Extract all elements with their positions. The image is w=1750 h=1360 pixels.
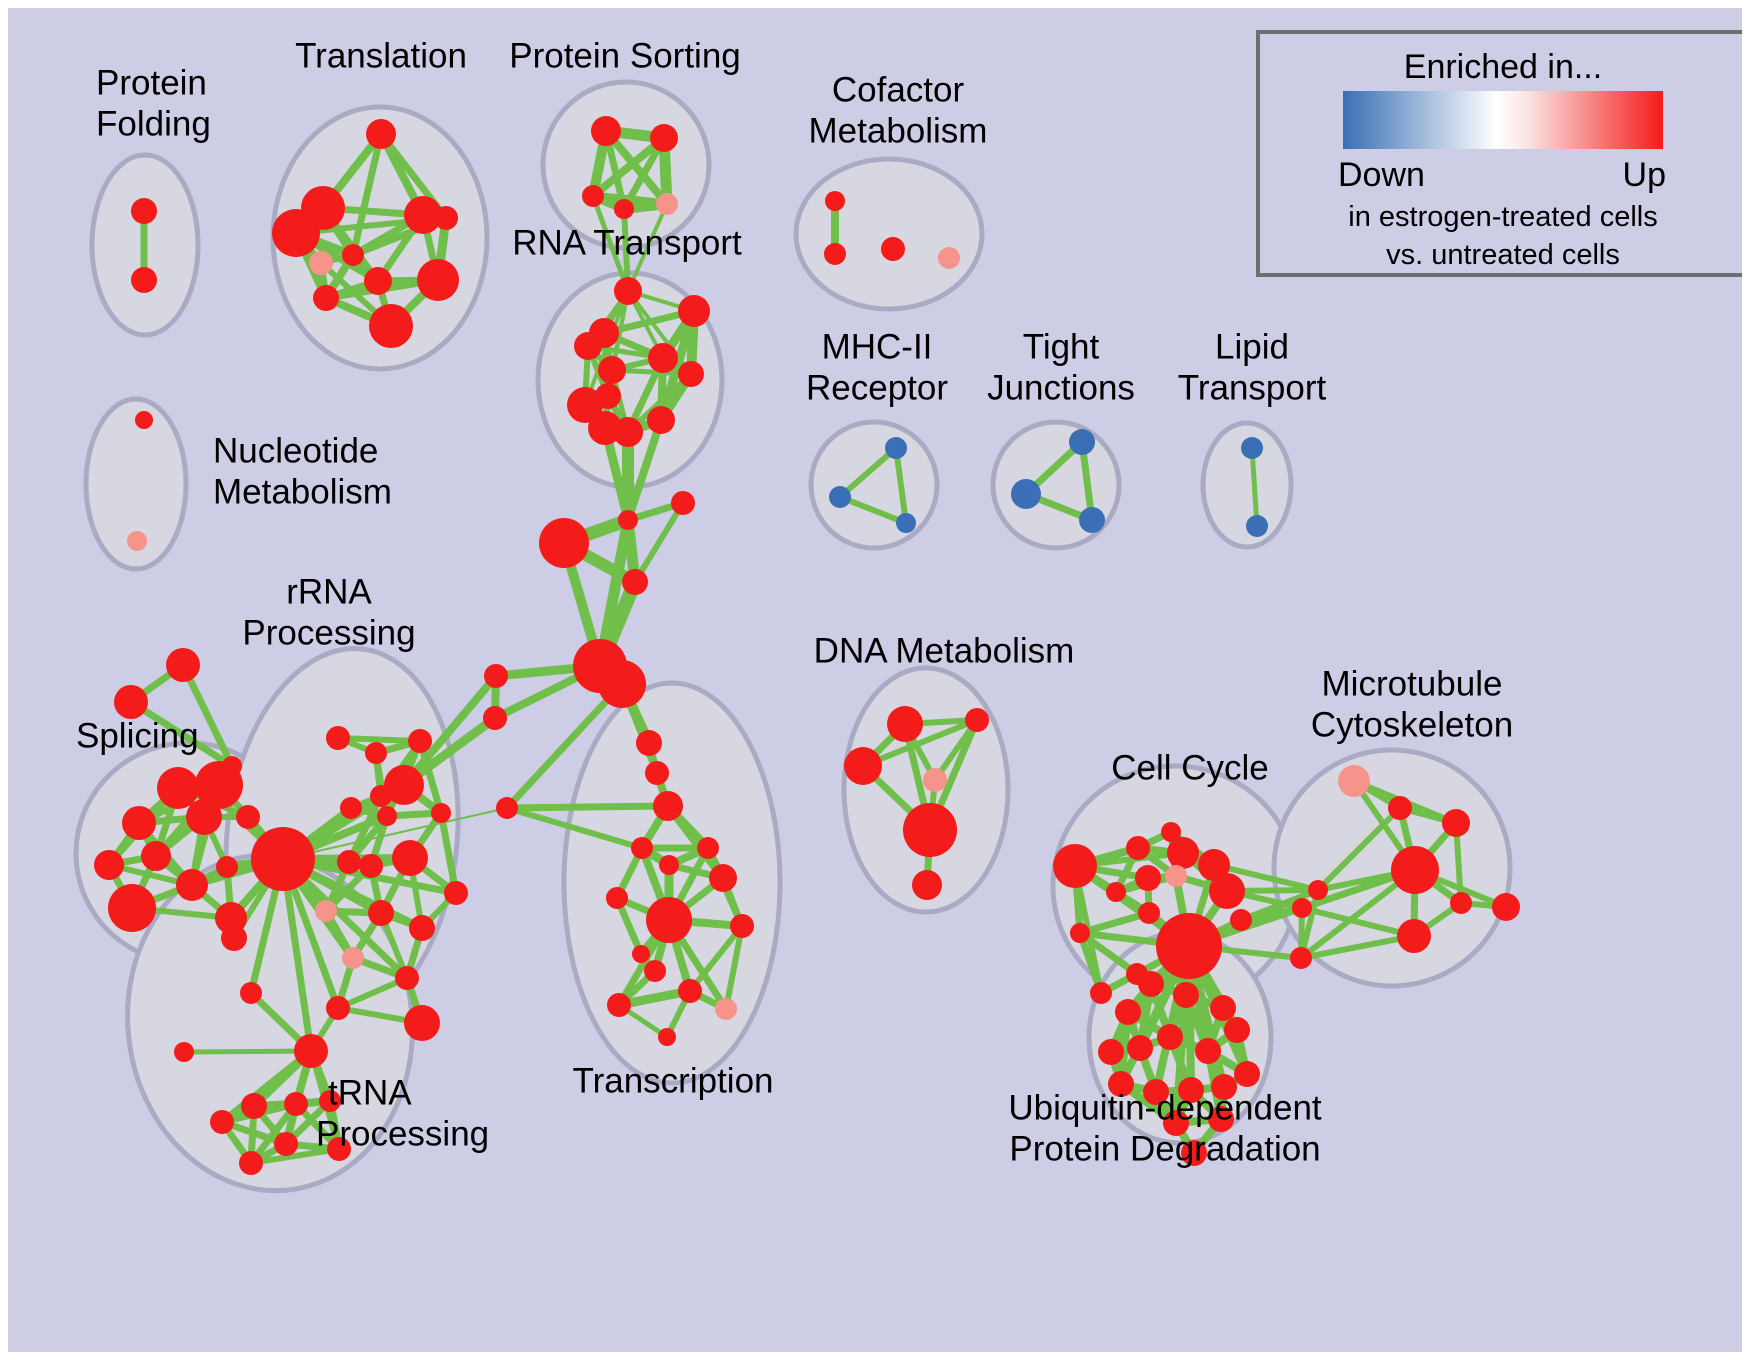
cluster-label-microtubule-cytoskeleton-2: Cytoskeleton — [1311, 705, 1513, 744]
node[interactable] — [1106, 882, 1126, 902]
node[interactable] — [618, 510, 638, 530]
node[interactable] — [1167, 837, 1199, 869]
node[interactable] — [1397, 919, 1431, 953]
legend-subtitle-line1: in estrogen-treated cells — [1348, 201, 1658, 233]
node[interactable] — [326, 726, 350, 750]
cluster-label-lipid-transport-2: Transport — [1178, 368, 1327, 407]
node[interactable] — [364, 267, 392, 295]
node[interactable] — [1157, 1024, 1183, 1050]
node[interactable] — [395, 966, 419, 990]
legend: Enriched in... Down Up in estrogen-treat… — [1258, 32, 1742, 275]
cluster-label-ubiquitin-protein-degradation-2: Protein Degradation — [1009, 1129, 1320, 1168]
node[interactable] — [377, 806, 397, 826]
node[interactable] — [484, 664, 508, 688]
node[interactable] — [1053, 844, 1097, 888]
node[interactable] — [622, 569, 648, 595]
cluster-label-dna-metabolism: DNA Metabolism — [814, 631, 1075, 670]
node[interactable] — [1090, 982, 1112, 1004]
node[interactable] — [709, 864, 737, 892]
node[interactable] — [1234, 1061, 1260, 1087]
node[interactable] — [1224, 1017, 1250, 1043]
node[interactable] — [1138, 971, 1164, 997]
node[interactable] — [417, 259, 459, 301]
node[interactable] — [240, 982, 262, 1004]
cluster-label-nucleotide-metabolism: Nucleotide — [213, 431, 378, 470]
node[interactable] — [221, 925, 247, 951]
cluster-label-tight-junctions: Tight — [1023, 327, 1100, 366]
node[interactable] — [659, 855, 679, 875]
node[interactable] — [1246, 515, 1268, 537]
node[interactable] — [912, 870, 942, 900]
node[interactable] — [444, 881, 468, 905]
node[interactable] — [632, 945, 650, 963]
cluster-label-mhc-ii-receptor-2: Receptor — [806, 368, 948, 407]
node[interactable] — [366, 119, 396, 149]
node[interactable] — [141, 841, 171, 871]
node[interactable] — [1230, 909, 1252, 931]
node[interactable] — [829, 486, 851, 508]
node[interactable] — [313, 285, 339, 311]
node[interactable] — [392, 840, 428, 876]
node[interactable] — [294, 1034, 328, 1068]
node[interactable] — [309, 251, 333, 275]
node[interactable] — [1098, 1039, 1124, 1065]
node[interactable] — [431, 803, 451, 823]
node[interactable] — [365, 742, 387, 764]
node[interactable] — [650, 124, 678, 152]
node[interactable] — [1241, 437, 1263, 459]
cluster-label-nucleotide-metabolism-2: Metabolism — [213, 472, 392, 511]
node[interactable] — [1338, 765, 1370, 797]
node[interactable] — [606, 887, 628, 909]
node[interactable] — [337, 850, 361, 874]
cluster-label-cell-cycle: Cell Cycle — [1111, 748, 1269, 787]
node[interactable] — [1127, 1035, 1153, 1061]
node[interactable] — [1290, 947, 1312, 969]
cluster-label-trna-processing-2: Processing — [316, 1114, 489, 1153]
node[interactable] — [574, 332, 602, 360]
cluster-label-transcription: Transcription — [573, 1061, 774, 1100]
node[interactable] — [1442, 809, 1470, 837]
node[interactable] — [595, 383, 621, 409]
node[interactable] — [648, 343, 678, 373]
node[interactable] — [896, 513, 916, 533]
node[interactable] — [881, 237, 905, 261]
node[interactable] — [1308, 880, 1328, 900]
node[interactable] — [176, 869, 208, 901]
cluster-label-mhc-ii-receptor: MHC-II — [822, 327, 933, 366]
node[interactable] — [614, 277, 642, 305]
node[interactable] — [885, 437, 907, 459]
node[interactable] — [1069, 429, 1095, 455]
node[interactable] — [671, 491, 695, 515]
node[interactable] — [903, 803, 957, 857]
node[interactable] — [408, 729, 432, 753]
node[interactable] — [824, 243, 846, 265]
node[interactable] — [1210, 995, 1236, 1021]
node[interactable] — [94, 850, 124, 880]
node[interactable] — [598, 660, 646, 708]
node[interactable] — [825, 191, 845, 211]
node[interactable] — [342, 244, 364, 266]
hull-mhc-ii-receptor — [811, 422, 937, 548]
node[interactable] — [1292, 898, 1312, 918]
node[interactable] — [656, 193, 678, 215]
node[interactable] — [697, 837, 719, 859]
node[interactable] — [207, 787, 227, 807]
node[interactable] — [844, 747, 882, 785]
node[interactable] — [730, 914, 754, 938]
node[interactable] — [284, 1092, 308, 1116]
node[interactable] — [384, 765, 424, 805]
node[interactable] — [887, 706, 923, 742]
node[interactable] — [1156, 913, 1222, 979]
cluster-label-trna-processing: tRNA — [328, 1073, 412, 1112]
node[interactable] — [647, 406, 675, 434]
node[interactable] — [653, 791, 683, 821]
node[interactable] — [434, 206, 458, 230]
node[interactable] — [108, 884, 156, 932]
node[interactable] — [598, 356, 626, 384]
node[interactable] — [1195, 1038, 1221, 1064]
node[interactable] — [272, 209, 320, 257]
node[interactable] — [614, 199, 634, 219]
node[interactable] — [1492, 893, 1520, 921]
legend-label-down: Down — [1338, 156, 1425, 194]
cluster-label-cofactor-metabolism-2: Metabolism — [809, 111, 988, 150]
cluster-label-ubiquitin-protein-degradation: Ubiquitin-dependent — [1008, 1088, 1322, 1127]
figure-canvas: Protein Folding Translation Protein Sort… — [0, 0, 1750, 1360]
node[interactable] — [1165, 865, 1187, 887]
node[interactable] — [1450, 892, 1472, 914]
node[interactable] — [646, 897, 692, 943]
node[interactable] — [127, 531, 147, 551]
node[interactable] — [359, 854, 383, 878]
node[interactable] — [1138, 902, 1160, 924]
network-plot-area: Protein Folding Translation Protein Sort… — [8, 8, 1742, 1352]
node[interactable] — [613, 417, 643, 447]
node[interactable] — [1388, 796, 1412, 820]
legend-color-gradient-bar — [1343, 91, 1663, 149]
node[interactable] — [340, 797, 362, 819]
cluster-label-rrna-processing-2: Processing — [242, 613, 415, 652]
node[interactable] — [539, 518, 589, 568]
node[interactable] — [1079, 507, 1105, 533]
node[interactable] — [631, 837, 653, 859]
legend-title: Enriched in... — [1404, 48, 1602, 86]
node[interactable] — [591, 116, 621, 146]
node[interactable] — [166, 648, 200, 682]
node[interactable] — [658, 1028, 676, 1046]
node[interactable] — [483, 706, 507, 730]
node[interactable] — [114, 685, 148, 719]
node[interactable] — [131, 198, 157, 224]
node[interactable] — [607, 993, 631, 1017]
node[interactable] — [122, 806, 156, 840]
cluster-label-translation: Translation — [295, 36, 467, 75]
node[interactable] — [645, 761, 669, 785]
hull-cofactor-metabolism — [796, 159, 982, 309]
node[interactable] — [938, 247, 960, 269]
node[interactable] — [644, 960, 666, 982]
node[interactable] — [241, 1093, 267, 1119]
node[interactable] — [1115, 999, 1141, 1025]
node[interactable] — [678, 361, 704, 387]
cluster-label-tight-junctions-2: Junctions — [987, 368, 1135, 407]
cluster-label-cofactor-metabolism: Cofactor — [832, 70, 965, 109]
node[interactable] — [216, 856, 238, 878]
node[interactable] — [678, 979, 702, 1003]
node[interactable] — [251, 827, 315, 891]
node[interactable] — [326, 996, 350, 1020]
legend-subtitle-line2: vs. untreated cells — [1386, 239, 1620, 271]
node[interactable] — [236, 805, 260, 829]
node[interactable] — [582, 185, 604, 207]
legend-label-up: Up — [1623, 156, 1666, 194]
node[interactable] — [965, 708, 989, 732]
node[interactable] — [1011, 479, 1041, 509]
node[interactable] — [174, 1042, 194, 1062]
node[interactable] — [1209, 873, 1245, 909]
node[interactable] — [923, 768, 947, 792]
node[interactable] — [210, 1110, 234, 1134]
node[interactable] — [131, 267, 157, 293]
cluster-label-rrna-processing: rRNA — [286, 572, 372, 611]
node[interactable] — [636, 730, 662, 756]
cluster-label-rna-transport: RNA Transport — [512, 223, 742, 262]
node[interactable] — [135, 411, 153, 429]
node[interactable] — [239, 1151, 263, 1175]
node[interactable] — [1391, 846, 1439, 894]
cluster-label-microtubule-cytoskeleton: Microtubule — [1322, 664, 1503, 703]
node[interactable] — [404, 1005, 440, 1041]
node[interactable] — [342, 947, 364, 969]
cluster-label-protein-folding-2: Folding — [96, 104, 211, 143]
enrichment-network-svg: Protein Folding Translation Protein Sort… — [8, 8, 1742, 1352]
node[interactable] — [409, 915, 435, 941]
node[interactable] — [1070, 923, 1090, 943]
cluster-label-protein-folding: Protein — [96, 63, 207, 102]
node[interactable] — [369, 304, 413, 348]
node[interactable] — [368, 900, 394, 926]
cluster-label-lipid-transport: Lipid — [1215, 327, 1289, 366]
node[interactable] — [157, 767, 199, 809]
node[interactable] — [315, 900, 337, 922]
node[interactable] — [1173, 982, 1199, 1008]
node[interactable] — [1126, 836, 1150, 860]
node[interactable] — [274, 1132, 298, 1156]
cluster-label-protein-sorting: Protein Sorting — [509, 36, 741, 75]
node[interactable] — [678, 295, 710, 327]
node[interactable] — [1135, 865, 1161, 891]
cluster-label-splicing: Splicing — [76, 716, 199, 755]
node[interactable] — [715, 998, 737, 1020]
node[interactable] — [496, 797, 518, 819]
